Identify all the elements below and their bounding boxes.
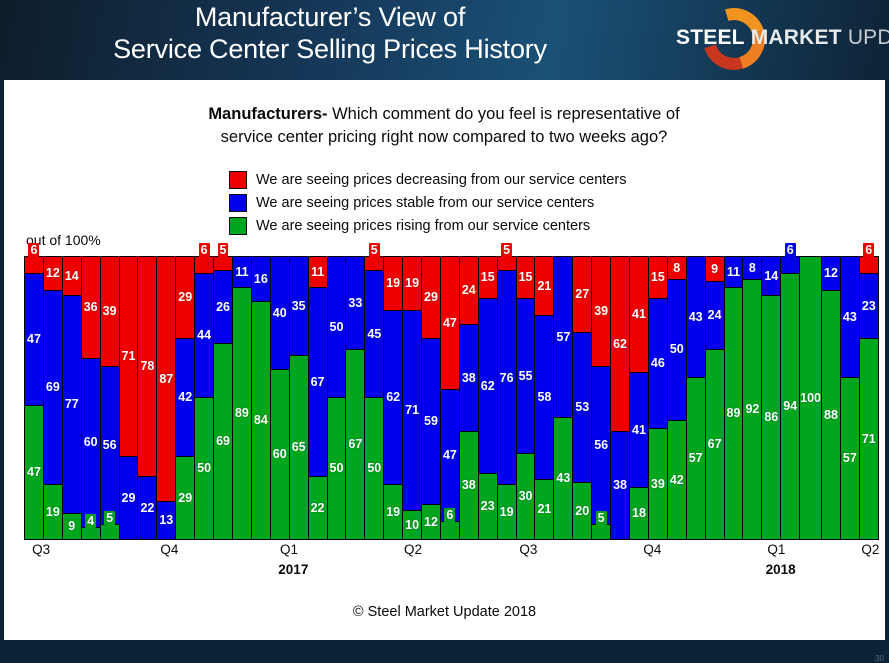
bar-segment-stable: 29 xyxy=(120,457,138,539)
bar-segment-value: 43 xyxy=(843,311,857,324)
bar-segment-stable: 11 xyxy=(725,257,743,288)
chart-bar: 116722 xyxy=(309,257,328,539)
bar-segment-rising: 50 xyxy=(365,398,383,539)
bar-segment-decreasing: 5 xyxy=(365,257,383,271)
bar-segment-decreasing: 29 xyxy=(176,257,194,339)
bar-segment-stable: 26 xyxy=(214,271,232,344)
bar-segment-value: 29 xyxy=(122,492,136,505)
bar-segment-value: 16 xyxy=(254,273,268,286)
bar-segment-rising: 88 xyxy=(822,291,840,539)
survey-question: Manufacturers- Which comment do you feel… xyxy=(94,103,794,150)
bar-segment-value: 15 xyxy=(481,271,495,284)
chart-bar: 100 xyxy=(800,257,822,539)
bar-segment-decreasing: 41 xyxy=(630,257,648,373)
bar-segment-value: 50 xyxy=(330,321,344,334)
bar-segment-value: 59 xyxy=(424,415,438,428)
chart-bar: 295912 xyxy=(422,257,441,539)
bar-segment-value: 50 xyxy=(330,462,344,475)
slide-body: Manufacturers- Which comment do you feel… xyxy=(4,80,885,640)
bar-segment-value: 41 xyxy=(632,424,646,437)
bar-segment-rising: 65 xyxy=(290,356,308,539)
bar-segment-value: 8 xyxy=(749,262,756,275)
chart-bar: 5743 xyxy=(554,257,573,539)
bar-segment-stable: 43 xyxy=(841,257,859,378)
bar-segment-value: 21 xyxy=(537,503,551,516)
bar-segment-value: 11 xyxy=(311,266,324,279)
bar-segment-rising: 89 xyxy=(233,288,251,539)
bar-segment-stable: 38 xyxy=(460,325,478,432)
bar-segment-stable: 67 xyxy=(309,288,327,477)
bar-segment-value: 88 xyxy=(824,409,838,422)
bar-segment-stable: 45 xyxy=(365,271,383,398)
bar-segment-value: 26 xyxy=(216,301,230,314)
bar-segment-stable: 35 xyxy=(290,257,308,356)
bar-segment-decreasing: 87 xyxy=(157,257,175,502)
chart-bar: 156223 xyxy=(479,257,498,539)
bar-segment-value: 4 xyxy=(85,514,96,529)
bar-segment-stable: 56 xyxy=(592,367,610,525)
bar-segment-value: 50 xyxy=(367,462,381,475)
x-axis-quarter-label: Q1 xyxy=(767,542,785,557)
bar-segment-rising: 30 xyxy=(517,454,535,539)
chart-bar: 92467 xyxy=(706,257,725,539)
bar-segment-value: 29 xyxy=(424,291,438,304)
legend-label-decreasing: We are seeing prices decreasing from our… xyxy=(256,172,626,188)
legend-swatch-rising-icon xyxy=(229,217,247,235)
bar-segment-value: 43 xyxy=(689,311,703,324)
bar-segment-value: 89 xyxy=(727,407,741,420)
bar-segment-value: 39 xyxy=(103,305,117,318)
x-axis-quarter-label: Q2 xyxy=(861,542,879,557)
bar-segment-rising: 42 xyxy=(668,421,686,539)
chart-bar: 62371 xyxy=(860,257,878,539)
legend-label-stable: We are seeing prices stable from our ser… xyxy=(256,195,594,211)
bar-segment-decreasing: 27 xyxy=(573,257,591,333)
bar-segment-rising: 67 xyxy=(346,350,364,539)
bar-segment-value: 78 xyxy=(140,360,154,373)
bar-segment-value: 39 xyxy=(651,478,665,491)
bar-segment-value: 5 xyxy=(218,243,229,258)
chart-bar: 1684 xyxy=(252,257,271,539)
bar-segment-stable: 47 xyxy=(441,390,459,523)
x-axis: Q3Q4Q1Q2Q3Q4Q1Q220172018 xyxy=(24,542,879,588)
chart-bar: 196219 xyxy=(384,257,403,539)
bar-segment-stable: 62 xyxy=(384,311,402,486)
x-axis-quarter-label: Q3 xyxy=(519,542,537,557)
bar-segment-value: 27 xyxy=(575,288,589,301)
bar-segment-rising: 67 xyxy=(706,350,724,539)
logo-word-steel: STEEL xyxy=(676,26,745,49)
bar-segment-value: 69 xyxy=(46,381,60,394)
bar-segment-rising: 38 xyxy=(460,432,478,539)
bar-segment-rising: 92 xyxy=(743,280,761,539)
bar-segment-value: 92 xyxy=(745,403,759,416)
bar-segment-rising: 100 xyxy=(800,257,821,539)
chart-bar: 6238 xyxy=(611,257,630,539)
bar-segment-value: 13 xyxy=(159,514,173,527)
bar-segment-decreasing: 71 xyxy=(120,257,138,457)
steel-market-update-logo: STEEL MARKET UPDATE xyxy=(668,4,889,76)
bar-segment-value: 69 xyxy=(216,435,230,448)
question-line-2: service center pricing right now compare… xyxy=(221,128,668,146)
bar-segment-value: 24 xyxy=(708,309,722,322)
bar-segment-value: 5 xyxy=(501,243,512,258)
bar-segment-stable: 71 xyxy=(403,311,421,511)
bar-segment-value: 15 xyxy=(651,271,665,284)
bar-segment-rising: 50 xyxy=(328,398,346,539)
bar-segment-value: 100 xyxy=(800,392,821,405)
bar-segment-value: 62 xyxy=(386,391,400,404)
x-axis-quarter-label: Q3 xyxy=(32,542,50,557)
bar-segment-decreasing: 39 xyxy=(592,257,610,367)
chart-bar: 154639 xyxy=(649,257,668,539)
bar-segment-value: 47 xyxy=(443,317,457,330)
bar-segment-value: 94 xyxy=(783,400,797,413)
question-audience: Manufacturers- xyxy=(208,105,327,123)
bar-segment-rising: 84 xyxy=(252,302,270,539)
bar-segment-decreasing: 6 xyxy=(195,257,213,274)
bar-segment-value: 30 xyxy=(519,490,533,503)
bar-segment-value: 12 xyxy=(46,267,60,280)
bar-segment-decreasing: 47 xyxy=(441,257,459,390)
bar-segment-value: 38 xyxy=(613,479,627,492)
bar-segment-rising: 4 xyxy=(82,528,100,539)
x-axis-quarter-label: Q4 xyxy=(643,542,661,557)
bar-segment-stable: 46 xyxy=(649,299,667,429)
chart-bar: 197110 xyxy=(403,257,422,539)
bar-segment-stable: 56 xyxy=(101,367,119,525)
bar-segment-value: 57 xyxy=(689,452,703,465)
bar-segment-stable: 62 xyxy=(479,299,497,474)
chart-bar: 155530 xyxy=(517,257,536,539)
bar-segment-value: 5 xyxy=(369,243,380,258)
bar-segment-stable: 43 xyxy=(687,257,705,378)
bar-segment-value: 39 xyxy=(594,305,608,318)
bar-segment-rising: 71 xyxy=(860,339,878,539)
bar-segment-rising: 22 xyxy=(309,477,327,539)
page-title: Manufacturer’s View of Service Center Se… xyxy=(0,2,660,66)
bar-segment-value: 42 xyxy=(178,391,192,404)
bar-segment-value: 19 xyxy=(46,506,60,519)
chart-bar: 57619 xyxy=(498,257,517,539)
bar-segment-stable: 33 xyxy=(346,257,364,350)
legend-item-stable: We are seeing prices stable from our ser… xyxy=(229,192,699,213)
bar-segment-rising: 5 xyxy=(592,525,610,539)
chart-bar: 47476 xyxy=(441,257,460,539)
bar-segment-value: 10 xyxy=(405,519,419,532)
logo-wordmark: STEEL MARKET UPDATE xyxy=(676,26,889,50)
bar-segment-value: 22 xyxy=(311,502,325,515)
bar-segment-value: 62 xyxy=(613,338,627,351)
bar-segment-decreasing: 62 xyxy=(611,257,629,432)
bar-segment-decreasing: 12 xyxy=(44,257,62,291)
bar-segment-decreasing: 21 xyxy=(535,257,553,316)
bar-segment-stable: 50 xyxy=(328,257,346,398)
chart-legend: We are seeing prices decreasing from our… xyxy=(229,169,699,238)
bar-segment-value: 14 xyxy=(764,270,778,283)
bar-segment-stable: 47 xyxy=(25,274,43,407)
bar-segment-rising: 29 xyxy=(176,457,194,539)
legend-item-rising: We are seeing prices rising from our ser… xyxy=(229,215,699,236)
bar-segment-value: 58 xyxy=(537,391,551,404)
bar-segment-decreasing: 78 xyxy=(138,257,156,477)
chart-bar: 39565 xyxy=(101,257,120,539)
bar-segment-value: 21 xyxy=(537,280,551,293)
bar-segment-value: 47 xyxy=(27,333,41,346)
bar-segment-value: 38 xyxy=(462,372,476,385)
x-axis-year-label: 2017 xyxy=(278,562,308,577)
bar-segment-stable: 41 xyxy=(630,373,648,489)
bar-segment-value: 6 xyxy=(444,508,455,523)
chart-bar: 54550 xyxy=(365,257,384,539)
bar-segment-rising: 43 xyxy=(554,418,572,539)
chart-bar: 36604 xyxy=(82,257,101,539)
chart-bar: 52669 xyxy=(214,257,233,539)
legend-label-rising: We are seeing prices rising from our ser… xyxy=(256,218,590,234)
bar-segment-rising: 5 xyxy=(101,525,119,539)
bar-segment-value: 22 xyxy=(140,502,154,515)
bar-segment-value: 55 xyxy=(519,370,533,383)
bar-segment-value: 19 xyxy=(386,277,400,290)
bar-segment-value: 77 xyxy=(65,398,79,411)
bar-segment-value: 53 xyxy=(575,401,589,414)
slide-number: 30 xyxy=(875,654,884,663)
bar-segment-value: 41 xyxy=(632,308,646,321)
bar-segment-stable: 60 xyxy=(82,359,100,528)
bar-segment-rising: 10 xyxy=(403,511,421,539)
bar-segment-value: 5 xyxy=(596,511,607,526)
chart-bar: 3565 xyxy=(290,257,309,539)
bar-segment-stable: 57 xyxy=(554,257,572,418)
logo-word-update: UPDATE xyxy=(848,26,889,49)
bar-segment-stable: 11 xyxy=(233,257,251,288)
bar-segment-value: 57 xyxy=(843,452,857,465)
bar-segment-value: 24 xyxy=(462,284,476,297)
bar-segment-value: 12 xyxy=(424,516,438,529)
chart-bar: 39565 xyxy=(592,257,611,539)
bar-segment-decreasing: 6 xyxy=(860,257,878,274)
bar-segment-value: 6 xyxy=(199,243,210,258)
chart-bar: 5050 xyxy=(328,257,347,539)
bar-segment-value: 5 xyxy=(104,511,115,526)
bar-segment-value: 12 xyxy=(824,267,838,280)
chart-bar: 294229 xyxy=(176,257,195,539)
bar-segment-decreasing: 8 xyxy=(668,257,686,280)
bar-segment-value: 33 xyxy=(348,297,362,310)
bar-segment-value: 84 xyxy=(254,414,268,427)
title-line-1: Manufacturer’s View of xyxy=(0,2,660,34)
bar-segment-value: 23 xyxy=(481,500,495,513)
bar-segment-value: 50 xyxy=(197,462,211,475)
bar-segment-stable: 13 xyxy=(157,502,175,539)
chart-bar: 892 xyxy=(743,257,762,539)
legend-swatch-decreasing-icon xyxy=(229,171,247,189)
chart-bar: 4357 xyxy=(687,257,706,539)
bar-segment-value: 35 xyxy=(292,300,306,313)
chart-bar: 694 xyxy=(781,257,800,539)
bar-segment-stable: 22 xyxy=(138,477,156,539)
bar-segment-value: 67 xyxy=(348,438,362,451)
legend-item-decreasing: We are seeing prices decreasing from our… xyxy=(229,169,699,190)
bar-segment-value: 6 xyxy=(785,243,796,258)
slide-root: Manufacturer’s View of Service Center Se… xyxy=(0,0,889,663)
bar-segment-value: 67 xyxy=(311,376,325,389)
bar-segment-decreasing: 19 xyxy=(384,257,402,311)
bar-segment-rising: 57 xyxy=(841,378,859,539)
bar-segment-decreasing: 5 xyxy=(214,257,232,271)
bar-segment-rising: 94 xyxy=(781,274,799,539)
bar-segment-decreasing: 29 xyxy=(422,257,440,339)
chart-bar: 215821 xyxy=(535,257,554,539)
bar-segment-stable: 6 xyxy=(781,257,799,274)
bar-segment-rising: 19 xyxy=(44,485,62,539)
chart-bar: 1486 xyxy=(762,257,781,539)
bar-segment-rising: 19 xyxy=(498,485,516,539)
stacked-bar-chart: 6474712691914779366043956571297822871329… xyxy=(24,256,879,540)
question-line-1: Which comment do you feel is representat… xyxy=(328,105,680,123)
x-axis-quarter-label: Q2 xyxy=(404,542,422,557)
legend-swatch-stable-icon xyxy=(229,194,247,212)
bar-segment-rising: 60 xyxy=(271,370,289,539)
bar-segment-value: 87 xyxy=(159,373,173,386)
bar-segment-rising: 47 xyxy=(25,406,43,539)
chart-bar: 1288 xyxy=(822,257,841,539)
bar-segment-value: 45 xyxy=(367,328,381,341)
bar-segment-decreasing: 19 xyxy=(403,257,421,311)
bar-segment-value: 19 xyxy=(500,506,514,519)
chart-bar: 1189 xyxy=(233,257,252,539)
bar-segment-value: 23 xyxy=(862,300,876,313)
bar-segment-stable: 14 xyxy=(762,257,780,296)
bar-segment-value: 57 xyxy=(556,331,570,344)
bar-segment-value: 60 xyxy=(84,436,98,449)
logo-word-market: MARKET xyxy=(751,26,842,49)
chart-bar: 85042 xyxy=(668,257,687,539)
bar-segment-decreasing: 36 xyxy=(82,257,100,359)
chart-bar: 64450 xyxy=(195,257,214,539)
bar-segment-decreasing: 9 xyxy=(706,257,724,282)
bar-segment-value: 15 xyxy=(519,271,533,284)
bar-segment-value: 19 xyxy=(386,506,400,519)
bar-segment-stable: 53 xyxy=(573,333,591,482)
bar-segment-rising: 89 xyxy=(725,288,743,539)
bar-segment-decreasing: 24 xyxy=(460,257,478,325)
bar-segment-rising: 20 xyxy=(573,483,591,539)
bar-segment-value: 29 xyxy=(178,492,192,505)
bar-segment-stable: 12 xyxy=(822,257,840,291)
bar-segment-stable: 42 xyxy=(176,339,194,457)
x-axis-year-label: 2018 xyxy=(766,562,796,577)
bar-segment-value: 29 xyxy=(178,291,192,304)
bar-segment-rising: 18 xyxy=(630,488,648,539)
bar-segment-stable: 44 xyxy=(195,274,213,398)
bar-segment-rising: 86 xyxy=(762,296,780,539)
bar-segment-value: 89 xyxy=(235,407,249,420)
bar-segment-decreasing: 14 xyxy=(63,257,81,296)
chart-bar: 7129 xyxy=(120,257,139,539)
chart-bar: 7822 xyxy=(138,257,157,539)
x-axis-quarter-label: Q1 xyxy=(280,542,298,557)
bar-segment-value: 71 xyxy=(405,404,419,417)
bar-segment-value: 76 xyxy=(500,372,514,385)
chart-bar: 4060 xyxy=(271,257,290,539)
bar-segment-value: 62 xyxy=(481,380,495,393)
bar-segment-decreasing: 15 xyxy=(517,257,535,299)
bar-segment-rising: 50 xyxy=(195,398,213,539)
chart-bar: 64747 xyxy=(25,257,44,539)
bar-segment-value: 44 xyxy=(197,329,211,342)
bar-segment-value: 9 xyxy=(68,520,75,533)
bar-segment-stable: 55 xyxy=(517,299,535,454)
chart-bar: 3367 xyxy=(346,257,365,539)
slide-header: Manufacturer’s View of Service Center Se… xyxy=(0,0,889,80)
bar-segment-rising: 9 xyxy=(63,514,81,539)
bar-segment-value: 67 xyxy=(708,438,722,451)
bar-segment-decreasing: 15 xyxy=(649,257,667,299)
bar-segment-rising: 21 xyxy=(535,480,553,539)
bar-segment-stable: 58 xyxy=(535,316,553,480)
bar-segment-value: 46 xyxy=(651,357,665,370)
bar-segment-value: 56 xyxy=(594,439,608,452)
bar-segment-stable: 23 xyxy=(860,274,878,339)
bar-segment-stable: 8 xyxy=(743,257,761,280)
bar-segment-value: 71 xyxy=(122,350,136,363)
bar-segment-stable: 16 xyxy=(252,257,270,302)
bar-segment-value: 43 xyxy=(556,472,570,485)
chart-bar: 8713 xyxy=(157,257,176,539)
bar-segment-value: 14 xyxy=(65,270,79,283)
bar-segment-value: 6 xyxy=(28,243,39,258)
bar-segment-value: 38 xyxy=(462,479,476,492)
title-line-2: Service Center Selling Prices History xyxy=(0,34,660,66)
bar-segment-rising: 57 xyxy=(687,378,705,539)
bar-segment-value: 47 xyxy=(443,449,457,462)
bar-segment-decreasing: 5 xyxy=(498,257,516,271)
chart-bar: 4357 xyxy=(841,257,860,539)
bar-segment-value: 18 xyxy=(632,507,646,520)
chart-bar: 275320 xyxy=(573,257,592,539)
bar-segment-stable: 77 xyxy=(63,296,81,513)
bar-segment-value: 56 xyxy=(103,439,117,452)
bar-segment-stable: 59 xyxy=(422,339,440,505)
bar-segment-value: 36 xyxy=(84,301,98,314)
bar-segment-value: 42 xyxy=(670,474,684,487)
bar-segment-stable: 50 xyxy=(668,280,686,421)
bar-segment-rising: 39 xyxy=(649,429,667,539)
bar-segment-value: 11 xyxy=(727,266,740,279)
chart-bar: 243838 xyxy=(460,257,479,539)
bar-segment-value: 20 xyxy=(575,505,589,518)
bar-segment-decreasing: 6 xyxy=(25,257,43,274)
bar-segment-value: 9 xyxy=(711,263,718,276)
bar-segment-value: 8 xyxy=(673,262,680,275)
bar-segment-rising: 12 xyxy=(422,505,440,539)
copyright-notice: © Steel Market Update 2018 xyxy=(4,604,885,620)
chart-bar: 14779 xyxy=(63,257,82,539)
bar-segment-value: 6 xyxy=(863,243,874,258)
bar-segment-value: 19 xyxy=(405,277,419,290)
x-axis-quarter-label: Q4 xyxy=(160,542,178,557)
bar-segment-value: 11 xyxy=(235,266,248,279)
chart-bar: 414118 xyxy=(630,257,649,539)
bar-segment-rising: 6 xyxy=(441,522,459,539)
bar-segment-value: 50 xyxy=(670,343,684,356)
bar-segment-value: 40 xyxy=(273,307,287,320)
bar-segment-decreasing: 39 xyxy=(101,257,119,367)
bar-segment-rising: 19 xyxy=(384,485,402,539)
bar-segment-stable: 40 xyxy=(271,257,289,370)
bar-segment-stable: 24 xyxy=(706,282,724,350)
